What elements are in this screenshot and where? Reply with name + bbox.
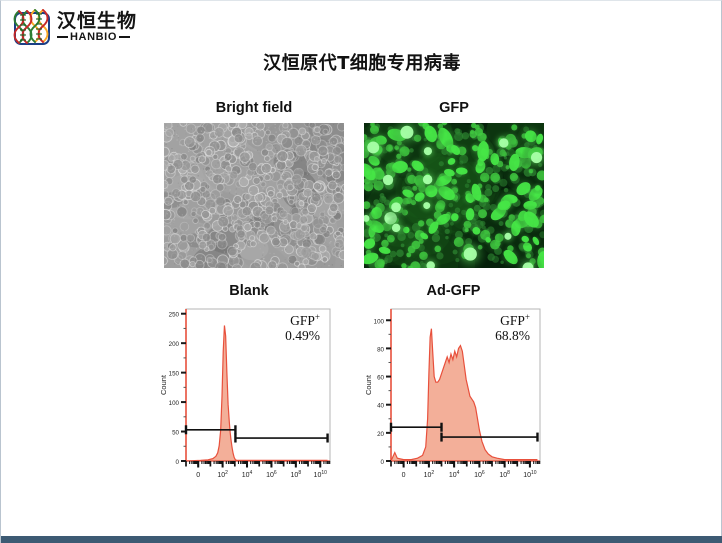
brightfield-microscopy-image <box>164 123 344 268</box>
logo-chinese-text: 汉恒生物 <box>57 6 137 33</box>
svg-text:150: 150 <box>169 371 180 378</box>
gfp-fluorescence-microscopy-image <box>364 123 544 268</box>
logo-english-lockup: HANBIO <box>57 31 167 43</box>
svg-text:0: 0 <box>381 459 385 466</box>
svg-text:80: 80 <box>377 346 384 353</box>
svg-text:20: 20 <box>377 431 384 438</box>
hanbio-logo: 汉恒生物 HANBIO <box>9 7 169 53</box>
label-gfp: GFP <box>364 100 544 116</box>
svg-text:0.49%: 0.49% <box>285 328 320 343</box>
label-blank: Blank <box>164 283 334 299</box>
label-ad-gfp: Ad-GFP <box>366 283 541 299</box>
label-bright-field: Bright field <box>164 100 344 116</box>
svg-text:100: 100 <box>169 400 180 407</box>
svg-text:0: 0 <box>176 459 180 466</box>
svg-text:60: 60 <box>377 375 384 382</box>
svg-text:Count: Count <box>364 374 373 395</box>
ad-gfp-flow-histogram: 02040608010001021041061081010CountGFP+68… <box>361 301 546 493</box>
logo-rule-right <box>119 36 130 38</box>
svg-text:0: 0 <box>196 472 200 479</box>
svg-text:100: 100 <box>374 318 385 325</box>
svg-text:106: 106 <box>266 470 277 479</box>
svg-text:1010: 1010 <box>523 470 537 479</box>
svg-text:106: 106 <box>474 470 485 479</box>
page-title: 汉恒原代T细胞专用病毒 <box>1 49 722 75</box>
svg-text:108: 108 <box>291 470 302 479</box>
slide-canvas: 汉恒生物 HANBIO 汉恒原代T细胞专用病毒 Bright field GFP… <box>0 0 722 543</box>
svg-text:200: 200 <box>169 341 180 348</box>
svg-text:104: 104 <box>449 470 460 479</box>
blank-flow-histogram: 05010015020025001021041061081010CountGFP… <box>156 301 336 493</box>
dna-helix-icon <box>11 9 55 49</box>
svg-text:1010: 1010 <box>314 470 328 479</box>
svg-text:250: 250 <box>169 312 180 319</box>
svg-text:Count: Count <box>159 374 168 395</box>
svg-text:108: 108 <box>499 470 510 479</box>
logo-wordmark: 汉恒生物 HANBIO <box>57 7 169 51</box>
svg-text:0: 0 <box>402 472 406 479</box>
svg-text:102: 102 <box>424 470 435 479</box>
svg-text:40: 40 <box>377 403 384 410</box>
svg-text:68.8%: 68.8% <box>495 328 530 343</box>
footer-bar <box>1 536 722 543</box>
logo-english-text: HANBIO <box>70 31 117 43</box>
svg-text:102: 102 <box>217 470 228 479</box>
logo-rule-left <box>57 36 68 38</box>
svg-text:50: 50 <box>172 430 179 437</box>
svg-text:104: 104 <box>242 470 253 479</box>
